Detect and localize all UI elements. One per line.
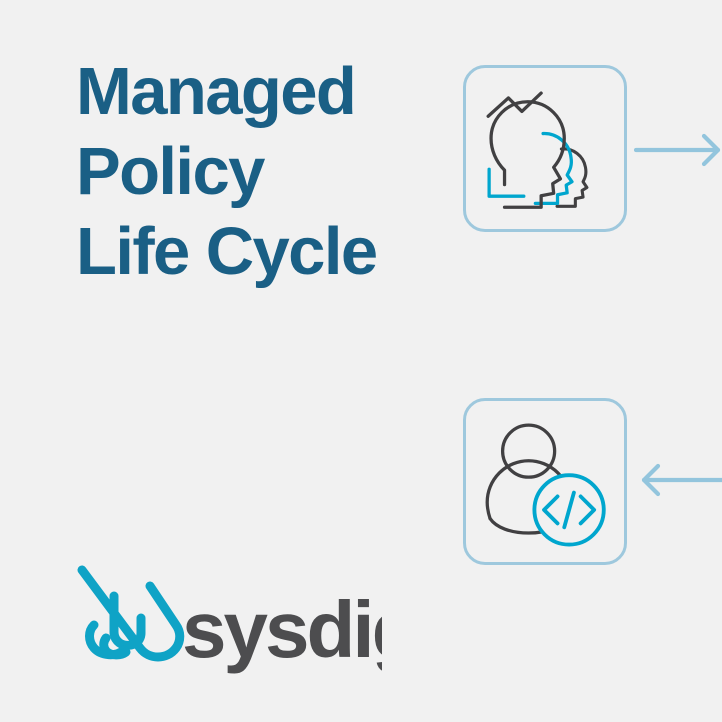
analytics-zigzag-icon: [488, 93, 541, 116]
page-title-line-3: Life Cycle: [76, 212, 456, 292]
slide-canvas: Managed Policy Life Cycle: [0, 0, 722, 722]
user-with-code-badge-icon: [466, 401, 624, 562]
icon-card-insights: [463, 65, 627, 232]
icon-card-developer: [463, 398, 627, 565]
arrow-left-icon: [638, 460, 722, 500]
sysdig-logo: sysdig: [70, 562, 382, 678]
front-head-shoulder-accent-icon: [489, 169, 524, 196]
sysdig-wordmark: sysdig: [182, 585, 382, 674]
page-title: Managed Policy Life Cycle: [76, 52, 456, 292]
sysdig-mark-icon: [82, 570, 180, 657]
arrow-right-icon: [634, 130, 722, 170]
page-title-line-2: Policy: [76, 132, 456, 212]
three-heads-analytics-icon: [466, 68, 624, 229]
user-head-icon: [503, 425, 555, 477]
page-title-line-1: Managed: [76, 52, 456, 132]
head-front-icon: [491, 102, 564, 207]
